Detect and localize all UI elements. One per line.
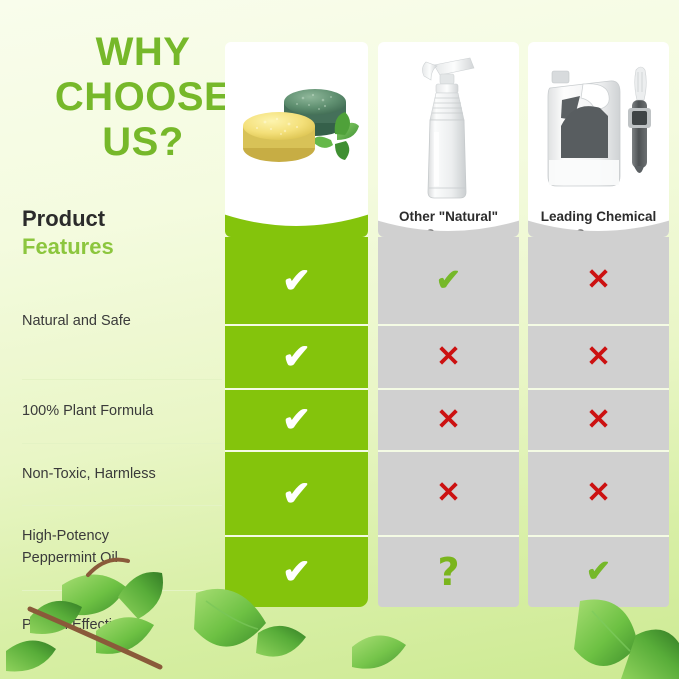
check-icon: ✔ (586, 557, 611, 587)
comparison-cell: ✔ (225, 537, 368, 607)
check-icon: ✔ (282, 555, 311, 589)
cross-icon: ✕ (586, 479, 610, 508)
card-bottom-curve-other-natural-sprays (378, 198, 519, 237)
cross-icon: ✕ (586, 266, 610, 295)
comparison-cell: ✕ (528, 237, 669, 326)
page-title: WHY CHOOSE US? (48, 30, 238, 164)
cross-icon: ✕ (436, 343, 460, 372)
comparison-cell: ✕ (528, 452, 669, 537)
card-bottom-curve-our-product (225, 198, 368, 237)
cross-icon: ✕ (586, 343, 610, 372)
feature-label-column: Natural and Safe100% Plant FormulaNon-To… (22, 264, 222, 661)
product-card-our-product (225, 42, 368, 237)
section-subtitle-line-2: Features (22, 233, 232, 261)
check-icon: ✔ (282, 477, 311, 511)
check-icon: ✔ (282, 264, 311, 298)
comparison-cell: ✔ (225, 237, 368, 326)
page-title-line-2: CHOOSE (48, 75, 238, 120)
cross-icon: ✕ (436, 479, 460, 508)
comparison-cell: ✔ (225, 452, 368, 537)
cleaning-tablets-with-mint-photo (225, 48, 368, 208)
comparison-cell: ✕ (378, 326, 519, 390)
comparison-column-other-natural-sprays: ✔✕✕✕? (378, 237, 519, 607)
feature-label-row: Natural and Safe (22, 264, 222, 380)
clear-trigger-spray-bottle-photo (378, 48, 519, 208)
feature-label-row: Non-Toxic, Harmless (22, 444, 222, 506)
check-icon: ✔ (282, 340, 311, 374)
comparison-cell: ✔ (378, 237, 519, 326)
comparison-cell: ✔ (528, 537, 669, 607)
comparison-infographic: WHY CHOOSE US? Product Features (0, 0, 679, 679)
comparison-cell: ✔ (225, 390, 368, 452)
feature-label-text: High-PotencyPeppermint Oil (22, 526, 118, 570)
comparison-cell: ? (378, 537, 519, 607)
comparison-column-our-product: ✔✔✔✔✔ (225, 237, 368, 607)
feature-label-text: Proven Effective (22, 615, 127, 637)
comparison-column-leading-chemical-sprays: ✕✕✕✕✔ (528, 237, 669, 607)
product-card-leading-chemical-sprays: Leading Chemical Sprays (528, 42, 669, 237)
feature-label-row: High-PotencyPeppermint Oil (22, 506, 222, 591)
comparison-cell: ✕ (528, 390, 669, 452)
page-title-line-3: US? (48, 120, 238, 165)
feature-label-text: Natural and Safe (22, 311, 131, 333)
section-subtitle-line-1: Product (22, 205, 232, 233)
chemical-jug-with-sprayer-photo (528, 48, 669, 208)
comparison-cell: ✔ (225, 326, 368, 390)
card-bottom-curve-leading-chemical-sprays (528, 198, 669, 237)
comparison-cell: ✕ (378, 452, 519, 537)
feature-label-text: 100% Plant Formula (22, 401, 153, 423)
cross-icon: ✕ (586, 406, 610, 435)
page-title-line-1: WHY (48, 30, 238, 75)
feature-label-row: 100% Plant Formula (22, 380, 222, 444)
product-card-other-natural-sprays: Other "Natural" Sprays (378, 42, 519, 237)
check-icon: ✔ (436, 266, 461, 296)
section-subtitle: Product Features (22, 205, 232, 261)
feature-label-row: Proven Effective (22, 591, 222, 661)
check-icon: ✔ (282, 403, 311, 437)
comparison-cell: ✕ (378, 390, 519, 452)
feature-label-text: Non-Toxic, Harmless (22, 464, 156, 486)
comparison-cell: ✕ (528, 326, 669, 390)
question-mark-icon: ? (437, 553, 459, 591)
cross-icon: ✕ (436, 406, 460, 435)
